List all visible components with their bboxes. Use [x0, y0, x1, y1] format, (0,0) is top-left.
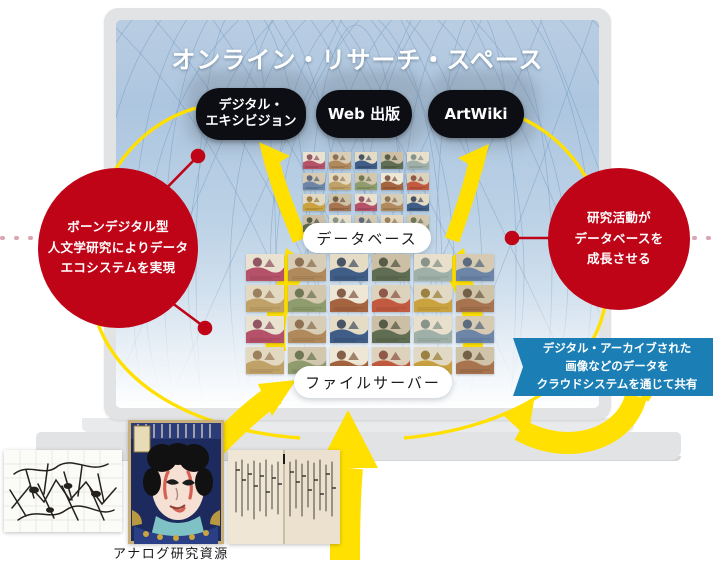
thumbnail-item	[381, 152, 403, 169]
thumbnail-item	[407, 152, 429, 169]
analog-photo-sketch-drawing	[4, 450, 122, 532]
thumbnail-item	[407, 173, 429, 190]
open-book-art	[228, 450, 340, 544]
output-label-web-publishing: Web 出版	[328, 105, 400, 123]
annotation-circle-right-text: 研究活動が データベースを 成長させる	[575, 208, 664, 270]
thumbnail-item	[330, 254, 368, 281]
annotation-banner-cloud-share: デジタル・アーカイブされた 画像などのデータを クラウドシステムを通じて共有	[513, 338, 713, 396]
thumbnail-item	[414, 285, 452, 312]
analog-photo-open-book	[228, 450, 340, 544]
thumbnail-item	[288, 254, 326, 281]
thumbnail-item	[414, 316, 452, 343]
analog-resources-caption: アナログ研究資源	[113, 543, 229, 561]
page-title: オンライン・リサーチ・スペース	[0, 40, 715, 75]
thumbnail-item	[303, 152, 325, 169]
output-pill-web-publishing[interactable]: Web 出版	[316, 90, 412, 138]
sketch-drawing-art	[4, 450, 122, 532]
thumbnail-item	[355, 152, 377, 169]
thumbnail-item	[456, 285, 494, 312]
annotation-banner-text: デジタル・アーカイブされた 画像などのデータを クラウドシステムを通じて共有	[537, 340, 698, 393]
thumbnail-item	[355, 194, 377, 211]
repository-label-file-server: ファイルサーバー	[305, 372, 441, 393]
diagram-root: オンライン・リサーチ・スペース デジタル・ エキシビジョン Web 出版 Art…	[0, 0, 715, 561]
fileserver-thumbnail-grid	[246, 254, 492, 376]
thumbnail-item	[288, 285, 326, 312]
thumbnail-item	[407, 194, 429, 211]
thumbnail-item	[355, 173, 377, 190]
thumbnail-item	[303, 194, 325, 211]
annotation-circle-right: 研究活動が データベースを 成長させる	[548, 168, 690, 310]
output-pill-artwiki[interactable]: ArtWiki	[428, 90, 524, 138]
thumbnail-item	[246, 285, 284, 312]
thumbnail-item	[329, 152, 351, 169]
annotation-circle-left-text: ボーンデジタル型 人文学研究によりデータ エコシステムを実現	[48, 217, 189, 279]
thumbnail-item	[372, 316, 410, 343]
repository-pill-database[interactable]: データベース	[303, 223, 431, 253]
output-label-artwiki: ArtWiki	[445, 105, 508, 123]
thumbnail-item	[329, 194, 351, 211]
repository-label-database: データベース	[316, 228, 417, 249]
thumbnail-item	[456, 254, 494, 281]
thumbnail-item	[456, 316, 494, 343]
thumbnail-item	[372, 285, 410, 312]
thumbnail-item	[372, 254, 410, 281]
thumbnail-item	[330, 285, 368, 312]
thumbnail-item	[303, 173, 325, 190]
thumbnail-item	[246, 254, 284, 281]
thumbnail-item	[288, 316, 326, 343]
thumbnail-item	[381, 194, 403, 211]
thumbnail-item	[246, 316, 284, 343]
database-thumbnail-grid	[303, 152, 431, 230]
annotation-circle-left: ボーンデジタル型 人文学研究によりデータ エコシステムを実現	[38, 168, 198, 328]
thumbnail-item	[456, 347, 494, 374]
output-pill-digital-exhibition[interactable]: デジタル・ エキシビジョン	[196, 88, 306, 140]
analog-photo-kabuki-ukiyoe	[128, 420, 224, 544]
thumbnail-item	[381, 173, 403, 190]
thumbnail-item	[330, 316, 368, 343]
output-label-digital-exhibition: デジタル・ エキシビジョン	[205, 98, 296, 130]
thumbnail-item	[246, 347, 284, 374]
thumbnail-item	[329, 173, 351, 190]
repository-pill-file-server[interactable]: ファイルサーバー	[294, 366, 452, 398]
kabuki-ukiyoe-art	[128, 420, 224, 544]
thumbnail-item	[414, 254, 452, 281]
